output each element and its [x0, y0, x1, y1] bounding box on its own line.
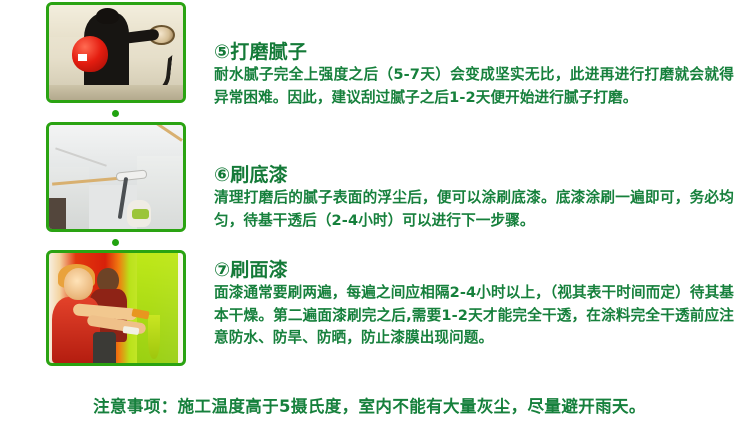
photo-separator-dot-1: [112, 110, 119, 117]
section-step-6-heading: ⑥刷底漆: [214, 163, 734, 187]
photo-primer-rolling: [46, 122, 186, 232]
photo-primer-rolling-image: [49, 125, 183, 229]
photo2-dark-furniture: [49, 198, 66, 229]
photo1-tank-label: [78, 54, 86, 61]
section-step-7-heading: ⑦刷面漆: [214, 258, 734, 282]
section-step-5-body: 耐水腻子完全上强度之后（5-7天）会变成坚实无比，此进再进行打磨就会就得异常困难…: [214, 64, 734, 109]
section-step-6: ⑥刷底漆 清理打磨后的腻子表面的浮尘后，便可以涂刷底漆。底漆涂刷一遍即可，务必均…: [214, 163, 734, 232]
photo-topcoat-painting-image: [49, 253, 183, 363]
section-step-6-body: 清理打磨后的腻子表面的浮尘后，便可以涂刷底漆。底漆涂刷一遍即可，务必均匀，待基干…: [214, 187, 734, 232]
photo-separator-dot-2: [112, 239, 119, 246]
photo1-floor: [49, 85, 183, 100]
photo3-paint-drip: [148, 315, 160, 359]
photo3-paint-bucket: [93, 332, 116, 363]
photo-sanding-putty: [46, 2, 186, 103]
photo2-worker-sleeve: [132, 209, 149, 218]
photo-sanding-putty-image: [49, 5, 183, 100]
section-step-5: ⑤打磨腻子 耐水腻子完全上强度之后（5-7天）会变成坚实无比，此进再进行打磨就会…: [214, 40, 734, 109]
photo1-red-vacuum-tank: [72, 36, 108, 72]
section-step-7-body: 面漆通常要刷两遍，每遍之间应相隔2-4小时以上，（视其表干时间而定）待其基本干燥…: [214, 282, 734, 350]
section-step-7: ⑦刷面漆 面漆通常要刷两遍，每遍之间应相隔2-4小时以上，（视其表干时间而定）待…: [214, 258, 734, 350]
section-step-5-heading: ⑤打磨腻子: [214, 40, 734, 64]
photo3-woman-head: [64, 268, 93, 300]
note-text: 注意事项：施工温度高于5摄氏度，室内不能有大量灰尘，尽量避开雨天。: [0, 395, 739, 419]
photo1-worker-head: [96, 8, 119, 24]
page-root: ⑤打磨腻子 耐水腻子完全上强度之后（5-7天）会变成坚实无比，此进再进行打磨就会…: [0, 0, 739, 431]
photo-topcoat-painting: [46, 250, 186, 366]
